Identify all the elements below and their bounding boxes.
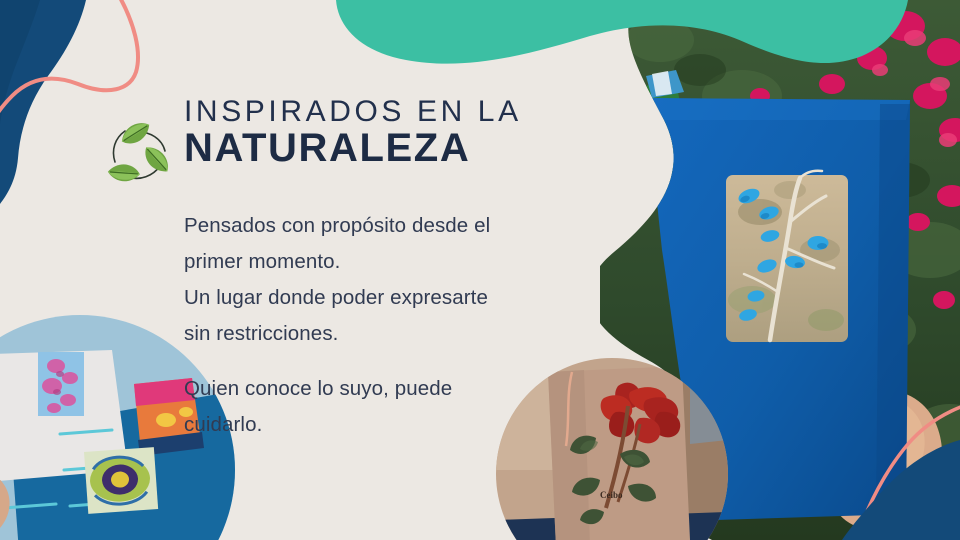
- paragraph-1-line-2: primer momento.: [184, 244, 604, 280]
- paragraph-2-line-1: Quien conoce lo suyo, puede: [184, 371, 604, 407]
- heading-group: INSPIRADOS EN LA NATURALEZA: [184, 96, 584, 170]
- paragraph-1-line-1: Pensados con propósito desde el: [184, 208, 604, 244]
- leaf-bottom-left: [107, 162, 141, 183]
- leaf-right: [140, 142, 172, 178]
- paragraph-2-line-2: cuidarlo.: [184, 407, 604, 443]
- paragraph-2: Quien conoce lo suyo, puede cuidarlo.: [184, 371, 604, 443]
- heading-title: NATURALEZA: [184, 128, 584, 170]
- paragraph-1-line-3: Un lugar donde poder expresarte: [184, 280, 604, 316]
- paragraph-1: Pensados con propósito desde el primer m…: [184, 208, 604, 352]
- slide-canvas: Ceibo: [0, 0, 960, 540]
- heading-kicker: INSPIRADOS EN LA: [184, 96, 584, 127]
- paragraph-1-line-4: sin restricciones.: [184, 316, 604, 352]
- recycling-leaves-icon: [106, 118, 172, 192]
- body-copy: Pensados con propósito desde el primer m…: [184, 208, 604, 443]
